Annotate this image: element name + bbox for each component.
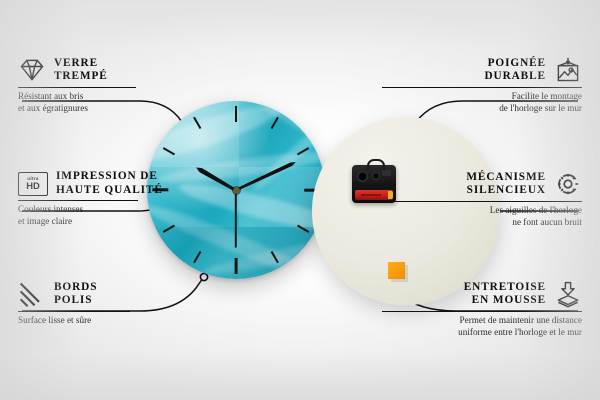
feature-bords-polis: BORDS POLIS Surface lisse et sûre xyxy=(18,280,218,327)
feature-desc-line2: ne font aucun bruit xyxy=(382,217,582,228)
ultra-hd-large-text: HD xyxy=(26,181,40,191)
divider xyxy=(382,87,582,88)
divider xyxy=(382,201,582,202)
feature-title-line1: ENTRETOISE xyxy=(464,281,546,295)
feature-title-line1: VERRE xyxy=(54,57,108,71)
hanging-picture-frame-icon xyxy=(554,56,582,84)
feature-desc-line2: uniforme entre l'horloge et le mur xyxy=(382,327,582,338)
feature-title-line2: TREMPÉ xyxy=(54,70,108,84)
feature-desc-line1: Couleurs intenses xyxy=(18,204,218,215)
clock-center-pin xyxy=(233,187,240,194)
divider xyxy=(18,87,136,88)
divider xyxy=(18,311,130,312)
feature-title-line2: DURABLE xyxy=(484,70,546,84)
infographic-canvas: VERRE TREMPÉ Résistant aux bris et aux é… xyxy=(0,0,600,400)
hanging-loop-icon xyxy=(367,159,385,170)
feature-desc-line2: de l'horloge sur le mur xyxy=(382,103,582,114)
arrow-onto-foam-layers-icon xyxy=(554,280,582,308)
divider xyxy=(18,200,138,201)
divider xyxy=(382,311,582,312)
feature-impression-haute-qualite: ultra HD IMPRESSION DE HAUTE QUALITÉ Cou… xyxy=(18,170,218,227)
feature-title-line2: POLIS xyxy=(54,294,97,308)
gear-icon xyxy=(554,170,582,198)
feature-desc-line1: Résistant aux bris xyxy=(18,91,218,102)
feature-entretoise-en-mousse: ENTRETOISE EN MOUSSE Permet de maintenir… xyxy=(382,280,582,338)
ultra-hd-badge-icon: ultra HD xyxy=(18,172,48,196)
feature-verre-trempe: VERRE TREMPÉ Résistant aux bris et aux é… xyxy=(18,56,218,114)
diagonal-lines-icon xyxy=(18,280,46,308)
feature-desc-line1: Facilite le montage xyxy=(382,91,582,102)
feature-title-line1: POIGNÉE xyxy=(484,57,546,71)
feature-desc-line1: Surface lisse et sûre xyxy=(18,315,218,326)
feature-desc-line1: Les aiguilles de l'horloge xyxy=(382,205,582,216)
feature-title-line1: BORDS xyxy=(54,281,97,295)
feature-desc-line1: Permet de maintenir une distance xyxy=(382,315,582,326)
diamond-gem-icon xyxy=(18,56,46,84)
feature-title-line2: HAUTE QUALITÉ xyxy=(56,184,163,198)
feature-poignee-durable: POIGNÉE DURABLE Facilite le montage de l… xyxy=(382,56,582,114)
feature-title-line2: EN MOUSSE xyxy=(464,294,546,308)
feature-title-line1: IMPRESSION DE xyxy=(56,170,163,184)
feature-title-line2: SILENCIEUX xyxy=(466,184,546,198)
feature-mecanisme-silencieux: MÉCANISME SILENCIEUX Les aiguilles de l'… xyxy=(382,170,582,228)
foam-spacer xyxy=(388,262,405,279)
feature-desc-line2: et image claire xyxy=(18,216,218,227)
feature-title-line1: MÉCANISME xyxy=(466,171,546,185)
clock-second-hand xyxy=(235,190,237,248)
feature-desc-line2: et aux égratignures xyxy=(18,103,218,114)
